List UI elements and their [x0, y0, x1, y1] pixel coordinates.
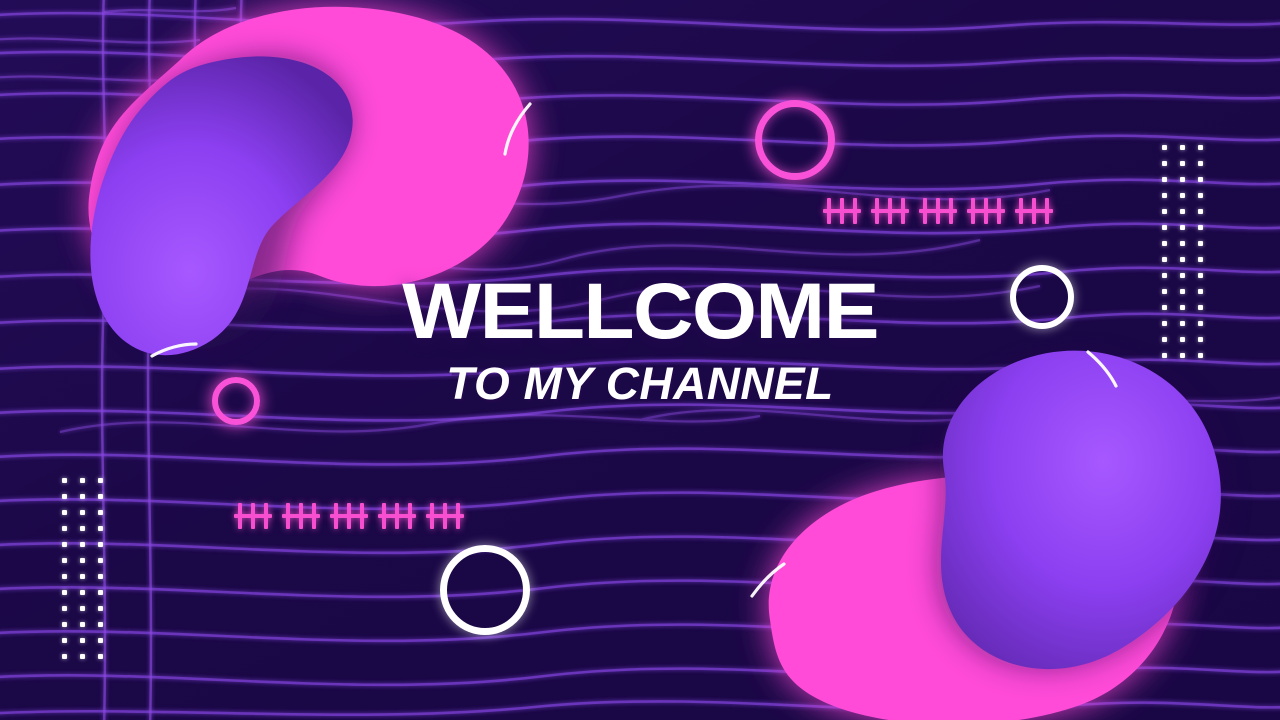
dot: [1180, 321, 1185, 326]
tally-group: [921, 198, 959, 224]
dot: [98, 622, 103, 627]
dot: [1162, 209, 1167, 214]
tally-row-bottom-left: [236, 503, 476, 529]
dot: [1162, 145, 1167, 150]
dot-grid-left: [62, 478, 116, 670]
tally-cross-bar: [967, 209, 1005, 213]
dot: [1198, 353, 1203, 358]
tally-cross-bar: [823, 209, 861, 213]
tally-cross-bar: [871, 209, 909, 213]
blob-shapes: [0, 0, 1280, 720]
dot: [1198, 177, 1203, 182]
dot: [1198, 161, 1203, 166]
tally-group: [380, 503, 418, 529]
dot: [1198, 305, 1203, 310]
dot: [1180, 209, 1185, 214]
dot: [1180, 145, 1185, 150]
tally-group: [1017, 198, 1055, 224]
dot: [1162, 257, 1167, 262]
dot: [1162, 193, 1167, 198]
ring-pink-left: [212, 377, 260, 425]
dot: [80, 622, 85, 627]
ring-pink-top: [755, 100, 835, 180]
dot: [1180, 305, 1185, 310]
dot: [1162, 353, 1167, 358]
dot: [98, 494, 103, 499]
dot: [80, 606, 85, 611]
dot: [1180, 177, 1185, 182]
tally-row-top-right: [825, 198, 1065, 224]
dot: [62, 478, 67, 483]
dot: [80, 574, 85, 579]
dot: [1162, 305, 1167, 310]
tally-group: [825, 198, 863, 224]
dot: [80, 558, 85, 563]
tally-cross-bar: [1015, 209, 1053, 213]
bottom-right-purple-blob: [937, 351, 1222, 670]
dot: [1198, 289, 1203, 294]
tally-group: [332, 503, 370, 529]
tally-group: [428, 503, 466, 529]
ring-white-right: [1010, 265, 1074, 329]
ring-white-bottom: [440, 545, 530, 635]
dot: [62, 606, 67, 611]
dot: [98, 654, 103, 659]
dot: [1198, 337, 1203, 342]
dot: [80, 478, 85, 483]
dot: [62, 622, 67, 627]
dot: [1198, 321, 1203, 326]
dot: [62, 590, 67, 595]
dot: [62, 542, 67, 547]
dot: [98, 510, 103, 515]
dot: [80, 590, 85, 595]
dot: [80, 510, 85, 515]
tally-cross-bar: [282, 514, 320, 518]
dot: [1180, 337, 1185, 342]
dot: [1180, 241, 1185, 246]
dot: [98, 542, 103, 547]
dot: [1198, 241, 1203, 246]
dot: [1162, 225, 1167, 230]
dot: [1180, 161, 1185, 166]
dot: [98, 478, 103, 483]
dot: [1162, 337, 1167, 342]
dot: [1180, 225, 1185, 230]
dot: [62, 654, 67, 659]
dot: [1162, 177, 1167, 182]
tally-group: [284, 503, 322, 529]
dot: [1180, 257, 1185, 262]
dot: [62, 526, 67, 531]
tally-cross-bar: [234, 514, 272, 518]
dot: [62, 510, 67, 515]
welcome-banner: WELLCOME TO MY CHANNEL: [0, 0, 1280, 720]
dot: [80, 654, 85, 659]
tally-cross-bar: [919, 209, 957, 213]
dot: [62, 494, 67, 499]
dot: [80, 494, 85, 499]
dot: [80, 542, 85, 547]
dot: [1198, 257, 1203, 262]
dot: [98, 638, 103, 643]
dot: [1180, 273, 1185, 278]
dot: [80, 526, 85, 531]
dot-grid-right: [1162, 145, 1216, 369]
dot: [62, 638, 67, 643]
dot: [1198, 193, 1203, 198]
dot: [1180, 193, 1185, 198]
dot: [1162, 321, 1167, 326]
tally-cross-bar: [378, 514, 416, 518]
dot: [98, 526, 103, 531]
dot: [98, 590, 103, 595]
dot: [98, 606, 103, 611]
tally-cross-bar: [426, 514, 464, 518]
tally-group: [236, 503, 274, 529]
dot: [1180, 289, 1185, 294]
dot: [1162, 161, 1167, 166]
tally-group: [969, 198, 1007, 224]
tally-group: [873, 198, 911, 224]
dot: [1198, 145, 1203, 150]
dot: [1162, 289, 1167, 294]
dot: [62, 574, 67, 579]
dot: [1162, 241, 1167, 246]
dot: [98, 558, 103, 563]
dot: [1198, 209, 1203, 214]
dot: [1198, 273, 1203, 278]
dot: [98, 574, 103, 579]
dot: [1162, 273, 1167, 278]
dot: [62, 558, 67, 563]
dot: [1198, 225, 1203, 230]
tally-cross-bar: [330, 514, 368, 518]
dot: [80, 638, 85, 643]
dot: [1180, 353, 1185, 358]
